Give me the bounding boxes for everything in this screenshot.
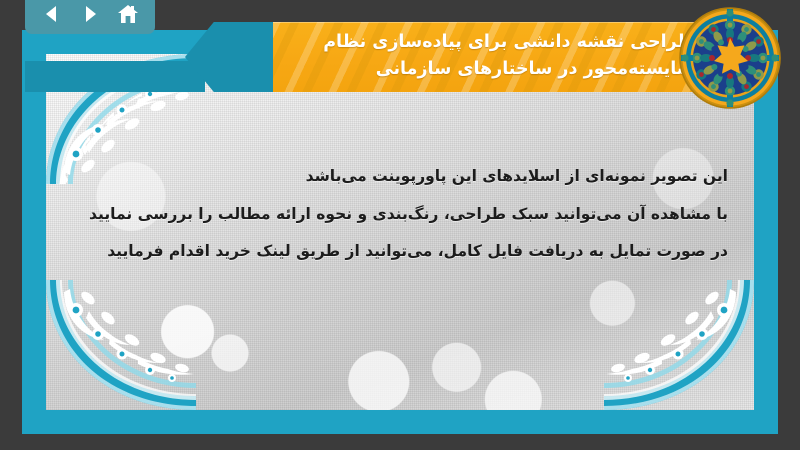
arabesque-corner-ornament-bottom-right	[604, 280, 754, 410]
slide-frame: این تصویر نمونه‌ای از اسلایدهای این پاور…	[22, 30, 778, 434]
body-line-3: در صورت تمایل به دریافت فایل کامل، می‌تو…	[48, 233, 728, 271]
previous-slide-button[interactable]	[33, 0, 71, 29]
home-icon	[117, 4, 139, 24]
triangle-left-icon	[42, 4, 62, 24]
body-line-2: با مشاهده آن می‌توانید سبک طراحی، رنگ‌بن…	[48, 196, 728, 234]
slide-body-text: این تصویر نمونه‌ای از اسلایدهای این پاور…	[48, 158, 728, 271]
slide-viewer: این تصویر نمونه‌ای از اسلایدهای این پاور…	[0, 0, 800, 450]
home-button[interactable]	[109, 0, 147, 29]
next-slide-button[interactable]	[71, 0, 109, 29]
slide-canvas: این تصویر نمونه‌ای از اسلایدهای این پاور…	[46, 54, 754, 410]
triangle-right-icon	[80, 4, 100, 24]
slide-navigation-bar[interactable]	[25, 0, 155, 34]
arabesque-corner-ornament-bottom-left	[46, 280, 196, 410]
body-line-1: این تصویر نمونه‌ای از اسلایدهای این پاور…	[48, 158, 728, 196]
